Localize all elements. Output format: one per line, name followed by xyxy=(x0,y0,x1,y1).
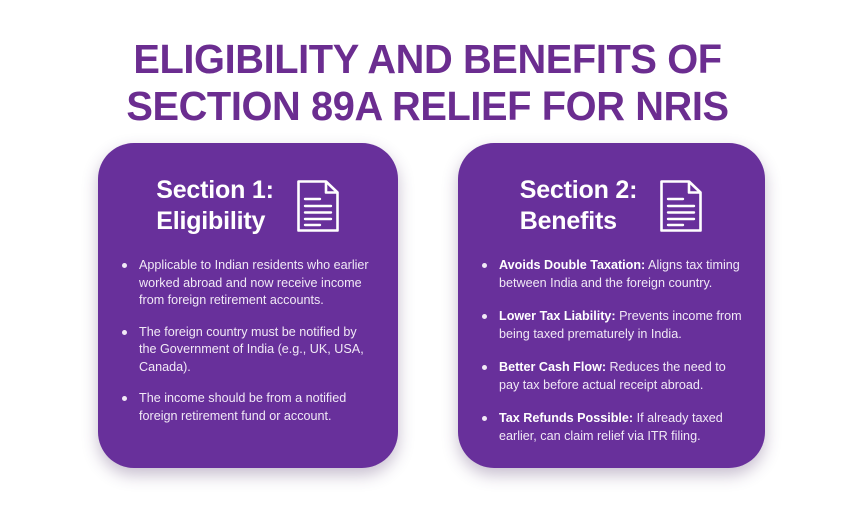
page-title-line-1: ELIGIBILITY AND BENEFITS OF xyxy=(13,36,842,83)
bullet-dot-icon xyxy=(482,416,487,421)
list-item-text: The foreign country must be notified by … xyxy=(139,325,364,374)
list-item: Avoids Double Taxation: Aligns tax timin… xyxy=(478,257,743,292)
card-section-1: Section 1: Eligibility Applicable to Ind… xyxy=(98,143,398,468)
card-section-1-title: Section 1: Eligibility xyxy=(156,175,273,237)
bullet-dot-icon xyxy=(122,330,127,335)
list-item-lead: Tax Refunds Possible: xyxy=(499,411,633,425)
list-item-lead: Lower Tax Liability: xyxy=(499,309,616,323)
list-item-text: Applicable to Indian residents who earli… xyxy=(139,258,369,307)
page-title-line-2: SECTION 89A RELIEF FOR NRIS xyxy=(13,83,842,130)
list-item-lead: Avoids Double Taxation: xyxy=(499,258,645,272)
list-item: Better Cash Flow: Reduces the need to pa… xyxy=(478,359,743,394)
list-item: Applicable to Indian residents who earli… xyxy=(118,257,376,310)
list-item: Lower Tax Liability: Prevents income fro… xyxy=(478,308,743,343)
bullet-dot-icon xyxy=(122,396,127,401)
list-item-text: The income should be from a notified for… xyxy=(139,391,346,423)
card-section-2-header: Section 2: Benefits xyxy=(458,143,765,243)
card-section-2-bullet-list: Avoids Double Taxation: Aligns tax timin… xyxy=(458,243,765,445)
list-item: The foreign country must be notified by … xyxy=(118,324,376,377)
card-section-1-bullet-list: Applicable to Indian residents who earli… xyxy=(98,243,398,425)
infographic-page: ELIGIBILITY AND BENEFITS OF SECTION 89A … xyxy=(0,0,855,520)
card-section-2-title: Section 2: Benefits xyxy=(520,175,637,237)
bullet-dot-icon xyxy=(482,314,487,319)
bullet-dot-icon xyxy=(122,263,127,268)
card-section-1-header: Section 1: Eligibility xyxy=(98,143,398,243)
list-item: The income should be from a notified for… xyxy=(118,390,376,425)
bullet-dot-icon xyxy=(482,365,487,370)
document-icon xyxy=(659,179,703,233)
document-icon xyxy=(296,179,340,233)
page-title: ELIGIBILITY AND BENEFITS OF SECTION 89A … xyxy=(0,36,855,130)
list-item: Tax Refunds Possible: If already taxed e… xyxy=(478,410,743,445)
card-section-2: Section 2: Benefits Avoids Double Taxati… xyxy=(458,143,765,468)
bullet-dot-icon xyxy=(482,263,487,268)
list-item-lead: Better Cash Flow: xyxy=(499,360,606,374)
